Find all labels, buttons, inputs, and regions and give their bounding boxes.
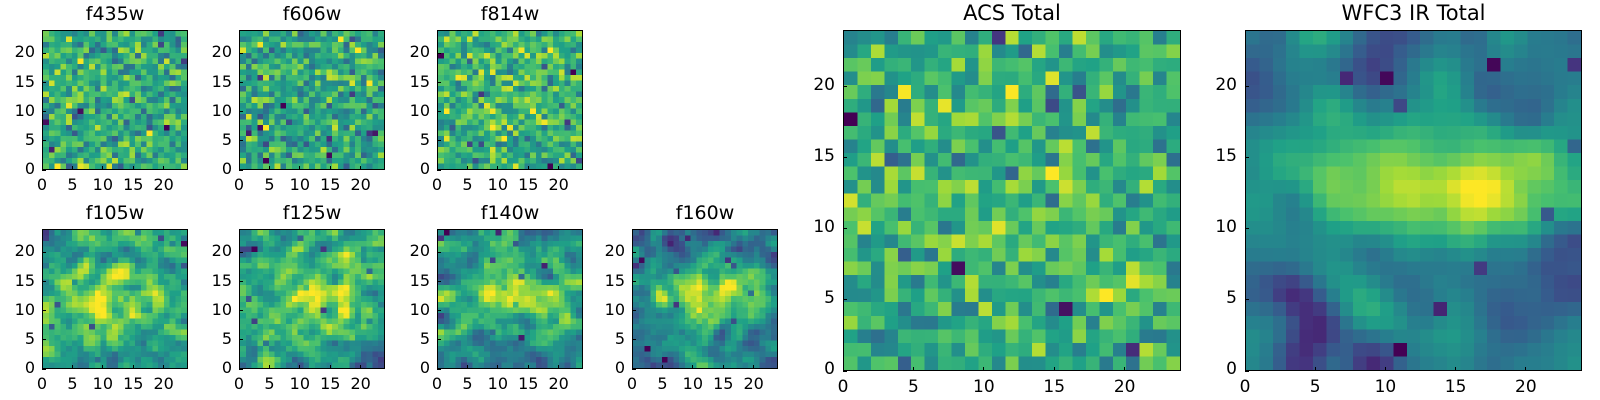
xtick-label: 5 [1285, 379, 1345, 396]
xtick-mark [1245, 367, 1246, 371]
ytick-label: 10 [370, 103, 430, 119]
xtick-label: 20 [331, 177, 391, 193]
ytick-label: 20 [370, 44, 430, 60]
ytick-label: 5 [1177, 290, 1237, 307]
xtick-mark [360, 166, 361, 170]
xtick-mark [467, 365, 468, 369]
xtick-mark [1124, 367, 1125, 371]
xtick-mark [437, 365, 438, 369]
xtick-mark [1385, 367, 1386, 371]
ytick-mark [42, 140, 46, 141]
xtick-mark [239, 365, 240, 369]
plot-area-acs-total [843, 30, 1181, 371]
ytick-label: 0 [565, 360, 625, 376]
xtick-mark [163, 365, 164, 369]
xtick-mark [983, 367, 984, 371]
xtick-mark [1315, 367, 1316, 371]
ytick-label: 10 [0, 103, 35, 119]
panel-title-f606w: f606w [239, 5, 385, 24]
ytick-label: 5 [172, 331, 232, 347]
ytick-mark [239, 53, 243, 54]
panel-title-f160w: f160w [632, 204, 778, 223]
ytick-label: 10 [172, 103, 232, 119]
heatmap-image-f814w [438, 31, 582, 169]
ytick-label: 0 [1177, 361, 1237, 378]
ytick-label: 15 [370, 273, 430, 289]
ytick-mark [437, 140, 441, 141]
xtick-mark [102, 365, 103, 369]
ytick-label: 5 [370, 331, 430, 347]
panel-f814w: f814w0510152005101520 [437, 30, 583, 170]
xtick-mark [42, 365, 43, 369]
ytick-label: 0 [0, 161, 35, 177]
ytick-mark [1245, 228, 1249, 229]
ytick-mark [437, 369, 441, 370]
xtick-mark [133, 166, 134, 170]
ytick-label: 15 [1177, 148, 1237, 165]
ytick-mark [42, 53, 46, 54]
ytick-mark [42, 310, 46, 311]
panel-f105w: f105w0510152005101520 [42, 229, 188, 369]
ytick-mark [437, 82, 441, 83]
panel-title-acs-total: ACS Total [843, 3, 1181, 24]
xtick-mark [72, 365, 73, 369]
plot-area-f606w [239, 30, 385, 170]
xtick-mark [1525, 367, 1526, 371]
ytick-mark [239, 369, 243, 370]
xtick-mark [330, 166, 331, 170]
xtick-label: 0 [813, 379, 873, 396]
panel-f140w: f140w0510152005101520 [437, 229, 583, 369]
ytick-label: 0 [370, 161, 430, 177]
ytick-label: 15 [775, 148, 835, 165]
panel-title-f125w: f125w [239, 204, 385, 223]
ytick-mark [42, 252, 46, 253]
ytick-label: 0 [775, 361, 835, 378]
xtick-mark [299, 365, 300, 369]
ytick-mark [437, 252, 441, 253]
ytick-mark [42, 369, 46, 370]
xtick-label: 20 [134, 376, 194, 392]
ytick-label: 10 [775, 219, 835, 236]
plot-area-f125w [239, 229, 385, 369]
plot-area-wfc3-ir-total [1245, 30, 1582, 371]
figure-canvas: f435w0510152005101520f606w05101520051015… [0, 0, 1600, 400]
xtick-label: 20 [331, 376, 391, 392]
panel-f125w: f125w0510152005101520 [239, 229, 385, 369]
ytick-mark [42, 111, 46, 112]
ytick-mark [239, 310, 243, 311]
xtick-mark [723, 365, 724, 369]
ytick-label: 15 [370, 74, 430, 90]
xtick-mark [632, 365, 633, 369]
ytick-label: 20 [0, 243, 35, 259]
ytick-mark [632, 369, 636, 370]
plot-area-f140w [437, 229, 583, 369]
ytick-label: 5 [0, 331, 35, 347]
ytick-mark [239, 339, 243, 340]
xtick-label: 20 [134, 177, 194, 193]
heatmap-image-wfc3-ir-total [1246, 31, 1581, 370]
ytick-mark [843, 228, 847, 229]
ytick-mark [437, 339, 441, 340]
plot-area-f160w [632, 229, 778, 369]
ytick-mark [239, 140, 243, 141]
ytick-label: 0 [370, 360, 430, 376]
panel-acs-total: ACS Total0510152005101520 [843, 30, 1181, 371]
ytick-mark [843, 86, 847, 87]
xtick-mark [692, 365, 693, 369]
ytick-mark [239, 281, 243, 282]
xtick-mark [163, 166, 164, 170]
xtick-label: 20 [1496, 379, 1556, 396]
ytick-mark [42, 281, 46, 282]
xtick-mark [558, 166, 559, 170]
ytick-label: 5 [0, 132, 35, 148]
panel-title-f814w: f814w [437, 5, 583, 24]
ytick-mark [239, 170, 243, 171]
ytick-label: 20 [172, 44, 232, 60]
panel-wfc3-ir-total: WFC3 IR Total0510152005101520 [1245, 30, 1582, 371]
xtick-mark [360, 365, 361, 369]
plot-area-f814w [437, 30, 583, 170]
ytick-mark [1245, 157, 1249, 158]
xtick-label: 10 [954, 379, 1014, 396]
ytick-label: 10 [565, 302, 625, 318]
xtick-mark [42, 166, 43, 170]
xtick-mark [1054, 367, 1055, 371]
ytick-mark [843, 371, 847, 372]
ytick-label: 5 [370, 132, 430, 148]
ytick-label: 15 [172, 74, 232, 90]
xtick-label: 15 [1426, 379, 1486, 396]
xtick-mark [269, 365, 270, 369]
ytick-label: 10 [370, 302, 430, 318]
ytick-label: 15 [0, 74, 35, 90]
ytick-label: 0 [172, 161, 232, 177]
ytick-mark [42, 339, 46, 340]
heatmap-image-f125w [240, 230, 384, 368]
ytick-label: 10 [0, 302, 35, 318]
xtick-label: 15 [1024, 379, 1084, 396]
ytick-mark [1245, 371, 1249, 372]
heatmap-image-f435w [43, 31, 187, 169]
ytick-label: 20 [0, 44, 35, 60]
ytick-label: 20 [1177, 77, 1237, 94]
ytick-mark [1245, 86, 1249, 87]
heatmap-image-f140w [438, 230, 582, 368]
plot-area-f435w [42, 30, 188, 170]
xtick-mark [497, 166, 498, 170]
ytick-label: 15 [172, 273, 232, 289]
xtick-mark [843, 367, 844, 371]
ytick-mark [1245, 299, 1249, 300]
ytick-mark [437, 111, 441, 112]
xtick-mark [72, 166, 73, 170]
ytick-mark [437, 310, 441, 311]
ytick-label: 5 [565, 331, 625, 347]
panel-title-wfc3-ir-total: WFC3 IR Total [1245, 3, 1582, 24]
ytick-mark [632, 310, 636, 311]
ytick-mark [437, 53, 441, 54]
xtick-label: 20 [529, 376, 589, 392]
xtick-mark [528, 166, 529, 170]
xtick-mark [662, 365, 663, 369]
panel-f160w: f160w0510152005101520 [632, 229, 778, 369]
ytick-label: 0 [0, 360, 35, 376]
ytick-mark [632, 339, 636, 340]
ytick-mark [843, 299, 847, 300]
xtick-mark [753, 365, 754, 369]
xtick-mark [133, 365, 134, 369]
xtick-mark [497, 365, 498, 369]
xtick-mark [299, 166, 300, 170]
ytick-label: 10 [172, 302, 232, 318]
xtick-label: 20 [1095, 379, 1155, 396]
ytick-label: 20 [370, 243, 430, 259]
ytick-label: 20 [172, 243, 232, 259]
xtick-label: 5 [883, 379, 943, 396]
xtick-label: 10 [1355, 379, 1415, 396]
ytick-mark [239, 111, 243, 112]
ytick-mark [437, 170, 441, 171]
ytick-label: 20 [775, 77, 835, 94]
heatmap-image-f105w [43, 230, 187, 368]
xtick-mark [437, 166, 438, 170]
heatmap-image-f160w [633, 230, 777, 368]
xtick-mark [528, 365, 529, 369]
ytick-mark [42, 82, 46, 83]
ytick-label: 5 [775, 290, 835, 307]
ytick-label: 15 [565, 273, 625, 289]
ytick-mark [239, 82, 243, 83]
xtick-mark [1455, 367, 1456, 371]
xtick-label: 20 [529, 177, 589, 193]
ytick-label: 5 [172, 132, 232, 148]
ytick-label: 15 [0, 273, 35, 289]
xtick-mark [467, 166, 468, 170]
ytick-mark [632, 252, 636, 253]
xtick-mark [558, 365, 559, 369]
panel-f435w: f435w0510152005101520 [42, 30, 188, 170]
plot-area-f105w [42, 229, 188, 369]
xtick-label: 0 [1215, 379, 1275, 396]
ytick-mark [239, 252, 243, 253]
ytick-label: 20 [565, 243, 625, 259]
xtick-mark [102, 166, 103, 170]
panel-f606w: f606w0510152005101520 [239, 30, 385, 170]
xtick-mark [269, 166, 270, 170]
ytick-mark [632, 281, 636, 282]
heatmap-image-f606w [240, 31, 384, 169]
ytick-mark [437, 281, 441, 282]
panel-title-f140w: f140w [437, 204, 583, 223]
xtick-mark [330, 365, 331, 369]
panel-title-f435w: f435w [42, 5, 188, 24]
panel-title-f105w: f105w [42, 204, 188, 223]
ytick-label: 0 [172, 360, 232, 376]
ytick-mark [843, 157, 847, 158]
ytick-mark [42, 170, 46, 171]
ytick-label: 10 [1177, 219, 1237, 236]
heatmap-image-acs-total [844, 31, 1180, 370]
xtick-mark [239, 166, 240, 170]
xtick-mark [913, 367, 914, 371]
